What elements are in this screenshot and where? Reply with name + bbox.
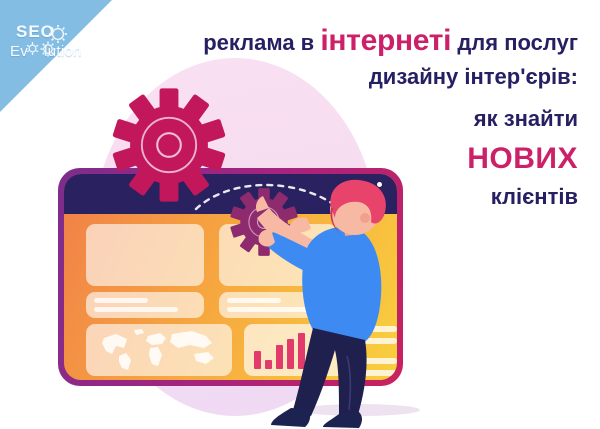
text-line	[94, 307, 178, 312]
headline-line-5: клієнтів	[118, 185, 578, 210]
headline-line-1: реклама в інтернеті для послуг	[118, 24, 578, 58]
banner-root: SEO Evlution	[0, 0, 600, 429]
headline-line-3: як знайти	[118, 107, 578, 132]
corner-ribbon: SEO Evlution	[0, 0, 135, 112]
world-map-icon	[86, 324, 232, 376]
headline-line-2: дизайну інтер'єрів:	[118, 65, 578, 90]
logo[interactable]: SEO Evlution	[8, 22, 108, 72]
content-card-1	[86, 224, 204, 286]
headline-line-4-novyh: НОВИХ	[118, 142, 578, 176]
gear-icon-evo-o	[38, 39, 58, 59]
headline-highlight-internet: інтернеті	[320, 24, 451, 57]
headline-line-1-prefix: реклама в	[203, 30, 320, 55]
headline-block: реклама в інтернеті для послуг дизайну і…	[118, 24, 578, 217]
content-card-1-text	[86, 292, 204, 318]
text-line	[94, 298, 148, 303]
headline-line-1-suffix: для послуг	[451, 30, 578, 55]
